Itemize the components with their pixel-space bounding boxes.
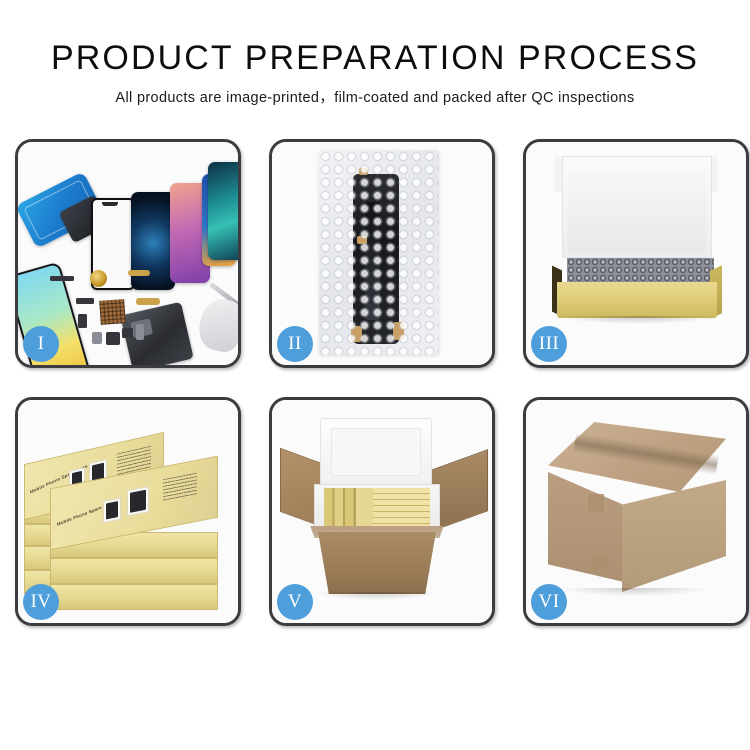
- carton-shadow: [316, 592, 438, 600]
- ribbon-part-1: [76, 298, 94, 304]
- box-window-front-1: [103, 498, 121, 523]
- screw-set-part: [136, 324, 144, 340]
- flex-cable-part-2: [136, 298, 160, 305]
- step-panel-5[interactable]: V: [269, 397, 495, 626]
- box-front-yellow: [557, 282, 717, 318]
- step-badge-6: VI: [531, 584, 567, 620]
- chip-board-part: [99, 299, 126, 325]
- stacked-box-front-4: [50, 558, 218, 584]
- step-panel-2[interactable]: II: [269, 139, 495, 368]
- stacked-box-front-5: [50, 584, 218, 610]
- vibrator-part: [106, 332, 120, 345]
- phone-display-teal: [208, 162, 241, 260]
- page-header: PRODUCT PREPARATION PROCESS All products…: [0, 0, 750, 107]
- box-lid-inner-face: [568, 172, 706, 252]
- step-panel-6[interactable]: VI: [523, 397, 749, 626]
- button-part: [122, 328, 133, 338]
- box-stack: Mobile Phone Spare Parts: [24, 414, 238, 610]
- anti-static-foam-insert: [567, 258, 714, 284]
- hand-holding-part: [195, 295, 241, 355]
- box-window-front-2: [127, 486, 149, 516]
- step-badge-1: I: [23, 326, 59, 362]
- process-step-grid: I II III: [15, 139, 735, 679]
- styrofoam-lid: [320, 418, 432, 486]
- sealed-carton-tape-upper: [588, 494, 604, 512]
- step-panel-4[interactable]: Mobile Phone Spare Parts: [15, 397, 241, 626]
- sealed-carton-left-face: [548, 472, 624, 582]
- page-title: PRODUCT PREPARATION PROCESS: [0, 38, 750, 78]
- box-shadow: [560, 316, 716, 324]
- connector-part: [50, 276, 74, 281]
- step-badge-2: II: [277, 326, 313, 362]
- bubble-wrap-bag: [319, 150, 439, 355]
- sealed-carton-shadow: [560, 588, 710, 596]
- step-badge-3: III: [531, 326, 567, 362]
- flex-cable-part-1: [128, 270, 150, 276]
- sealed-carton-right-face: [622, 480, 726, 592]
- step-badge-5: V: [277, 584, 313, 620]
- speaker-coil-part: [90, 270, 107, 287]
- step-panel-3[interactable]: III: [523, 139, 749, 368]
- camera-module-part: [78, 314, 87, 328]
- page-subtitle: All products are image-printed，film-coat…: [0, 86, 750, 107]
- sealed-carton-tape-lower: [592, 556, 608, 572]
- bubble-texture: [319, 150, 439, 355]
- carton-front-face: [310, 532, 444, 594]
- sim-tray-part: [92, 332, 102, 344]
- step-badge-4: IV: [23, 584, 59, 620]
- box-spec-lines-front: [163, 473, 197, 502]
- yellow-boxes-inside: [324, 488, 430, 530]
- step-panel-1[interactable]: I: [15, 139, 241, 368]
